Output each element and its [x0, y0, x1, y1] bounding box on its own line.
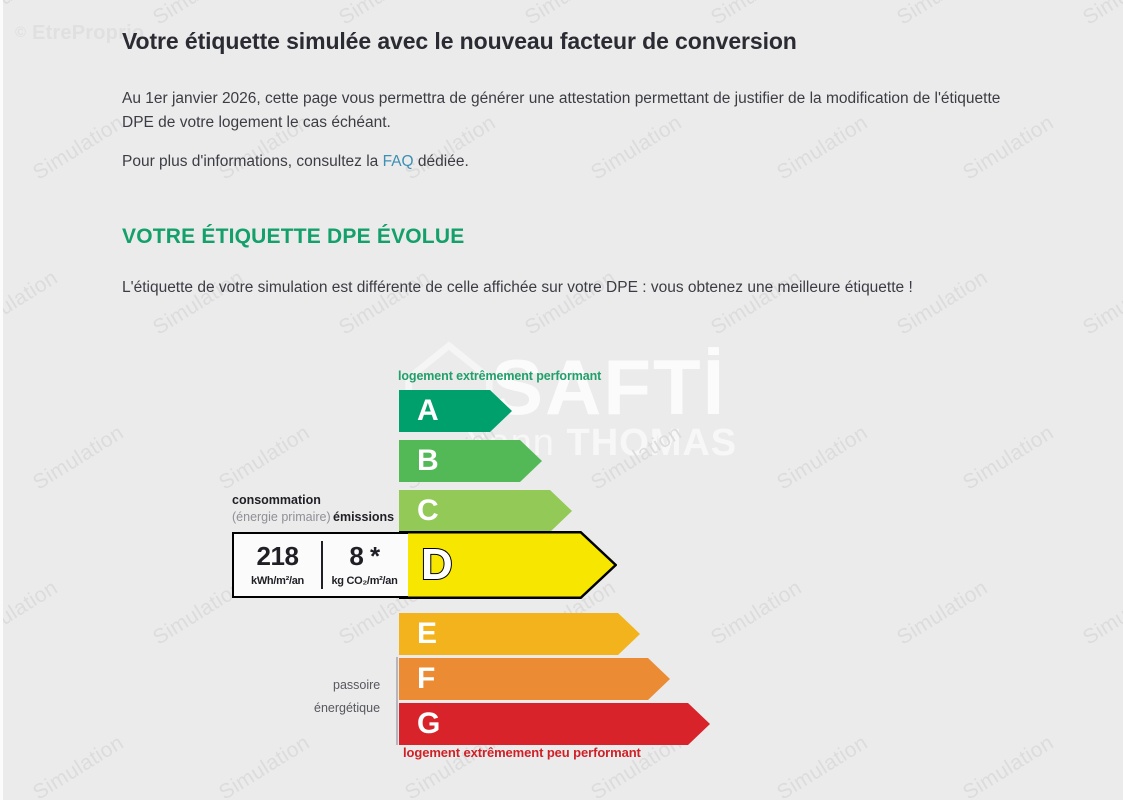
dpe-class-letter: E	[417, 619, 437, 649]
dpe-class-letter: F	[417, 664, 435, 694]
simulation-watermark: Simulation	[893, 0, 992, 30]
simulation-watermark: Simulation	[707, 576, 806, 650]
emissions-value: 8 *	[349, 543, 379, 569]
dpe-class-letter: C	[417, 496, 439, 526]
dpe-class-c[interactable]: C	[399, 490, 572, 532]
agent-last-name: THOMAS	[567, 422, 738, 464]
simulation-watermark: Simulation	[587, 421, 686, 495]
simulation-watermark: Simulation	[29, 111, 128, 185]
simulation-watermark: Simulation	[149, 0, 248, 30]
faq-paragraph: Pour plus d'informations, consultez la F…	[122, 150, 1027, 174]
dpe-top-caption: logement extrêmement performant	[398, 369, 601, 383]
simulation-watermark: Simulation	[215, 421, 314, 495]
consumption-label: consommation	[232, 493, 321, 507]
dpe-arrow-shape	[399, 390, 512, 432]
simulation-watermark: Simulation	[773, 731, 872, 800]
dpe-class-letter: G	[417, 709, 440, 739]
dpe-class-b[interactable]: B	[399, 440, 542, 482]
emissions-value-cell: 8 * kg CO₂/m²/an	[321, 534, 408, 596]
dpe-class-letter: A	[417, 396, 439, 426]
simulation-watermark: Simulation	[3, 576, 62, 650]
simulation-watermark: Simulation	[773, 421, 872, 495]
simulation-watermark: Simulation	[1079, 576, 1123, 650]
result-paragraph: L'étiquette de votre simulation est diff…	[122, 276, 913, 300]
page-title: Votre étiquette simulée avec le nouveau …	[122, 28, 797, 55]
simulation-watermark: Simulation	[1079, 266, 1123, 340]
simulation-watermark: Simulation	[335, 0, 434, 30]
faq-link[interactable]: FAQ	[383, 153, 414, 170]
simulation-watermark: Simulation	[959, 731, 1058, 800]
consumption-sublabel: (énergie primaire)	[232, 510, 331, 524]
section-title: VOTRE ÉTIQUETTE DPE ÉVOLUE	[122, 225, 464, 249]
copyright-icon: ©	[15, 24, 26, 41]
emissions-label: émissions	[333, 510, 394, 524]
safti-watermark-label: SAFTİ	[491, 342, 726, 433]
intro-paragraph: Au 1er janvier 2026, cette page vous per…	[122, 87, 1027, 135]
simulation-watermark: Simulation	[3, 266, 62, 340]
dpe-class-letter: D	[421, 543, 453, 587]
passoire-bracket	[396, 657, 398, 745]
dpe-arrow-shape	[399, 658, 670, 700]
simulation-watermark: Simulation	[215, 731, 314, 800]
faq-paragraph-prefix: Pour plus d'informations, consultez la	[122, 153, 383, 170]
simulation-watermark: Simulation	[959, 421, 1058, 495]
simulation-watermark: Simulation	[707, 0, 806, 30]
consumption-value-cell: 218 kWh/m²/an	[234, 534, 321, 596]
dpe-class-letter: B	[417, 446, 439, 476]
dpe-class-f[interactable]: F	[399, 658, 670, 700]
faq-paragraph-suffix: dédiée.	[414, 153, 469, 170]
dpe-arrow-shape	[399, 703, 710, 745]
emissions-unit: kg CO₂/m²/an	[331, 575, 397, 587]
dpe-bottom-caption: logement extrêmement peu performant	[403, 745, 641, 760]
dpe-class-d[interactable]: D	[399, 531, 617, 599]
simulation-watermark: Simulation	[1079, 0, 1123, 30]
dpe-class-a[interactable]: A	[399, 390, 512, 432]
dpe-value-box: 218 kWh/m²/an 8 * kg CO₂/m²/an	[232, 532, 408, 598]
consumption-unit: kWh/m²/an	[251, 575, 304, 587]
simulation-watermark: Simulation	[29, 421, 128, 495]
dpe-class-e[interactable]: E	[399, 613, 640, 655]
simulation-watermark: Simulation	[521, 0, 620, 30]
consumption-value: 218	[257, 543, 299, 569]
simulation-watermark: Simulation	[893, 576, 992, 650]
passoire-label-line2: énergétique	[314, 701, 380, 715]
passoire-label-line1: passoire	[333, 678, 380, 692]
dpe-class-g[interactable]: G	[399, 703, 710, 745]
simulation-page: SimulationSimulationSimulationSimulation…	[0, 0, 1123, 800]
simulation-watermark: Simulation	[29, 731, 128, 800]
